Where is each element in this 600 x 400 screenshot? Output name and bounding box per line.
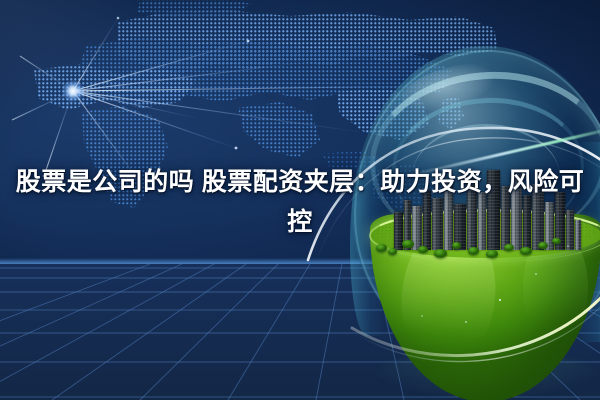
page-title: 股票是公司的吗 股票配资夹层：助力投资，风险可控 [0, 162, 600, 242]
banner-image: 股票是公司的吗 股票配资夹层：助力投资，风险可控 [0, 0, 600, 400]
